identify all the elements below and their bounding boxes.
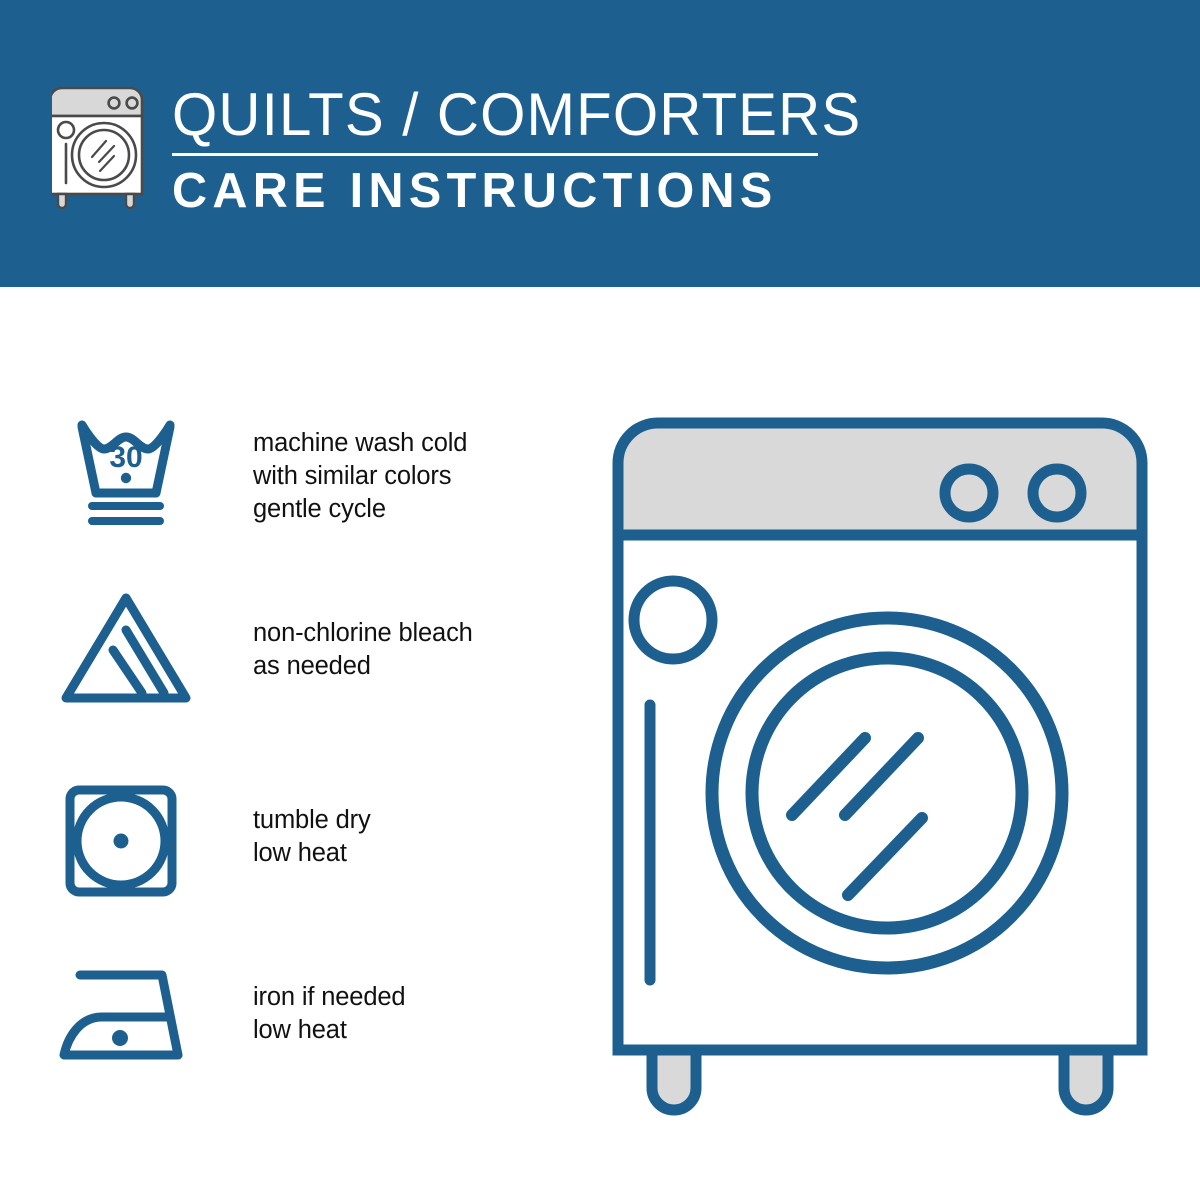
title-divider — [172, 153, 818, 156]
care-instructions-page: QUILTS / COMFORTERS CARE INSTRUCTIONS 30 — [0, 0, 1200, 1200]
washing-machine-icon — [52, 78, 160, 210]
care-row: iron if needed low heat — [58, 955, 528, 1073]
washing-machine-illustration — [600, 405, 1160, 1120]
iron-low-heat-icon — [58, 955, 194, 1073]
page-header: QUILTS / COMFORTERS CARE INSTRUCTIONS — [0, 0, 1200, 287]
machine-wash-30-icon: 30 — [58, 415, 194, 533]
wash-temperature-label: 30 — [109, 441, 142, 474]
page-title: QUILTS / COMFORTERS — [172, 84, 801, 146]
care-row: 30 machine wash cold with similar colors… — [58, 415, 528, 533]
care-instruction-text: non-chlorine bleach as needed — [253, 590, 473, 683]
header-title-block: QUILTS / COMFORTERS CARE INSTRUCTIONS — [172, 84, 820, 217]
care-instruction-text: iron if needed low heat — [253, 955, 405, 1047]
care-row: tumble dry low heat — [58, 782, 528, 900]
care-instruction-text: machine wash cold with similar colors ge… — [253, 415, 467, 526]
care-instruction-text: tumble dry low heat — [253, 782, 371, 870]
care-row: non-chlorine bleach as needed — [58, 590, 528, 708]
care-instructions-list: 30 machine wash cold with similar colors… — [0, 287, 560, 1200]
non-chlorine-bleach-icon — [58, 590, 194, 708]
tumble-dry-low-icon — [58, 782, 194, 900]
page-subtitle: CARE INSTRUCTIONS — [172, 165, 814, 217]
